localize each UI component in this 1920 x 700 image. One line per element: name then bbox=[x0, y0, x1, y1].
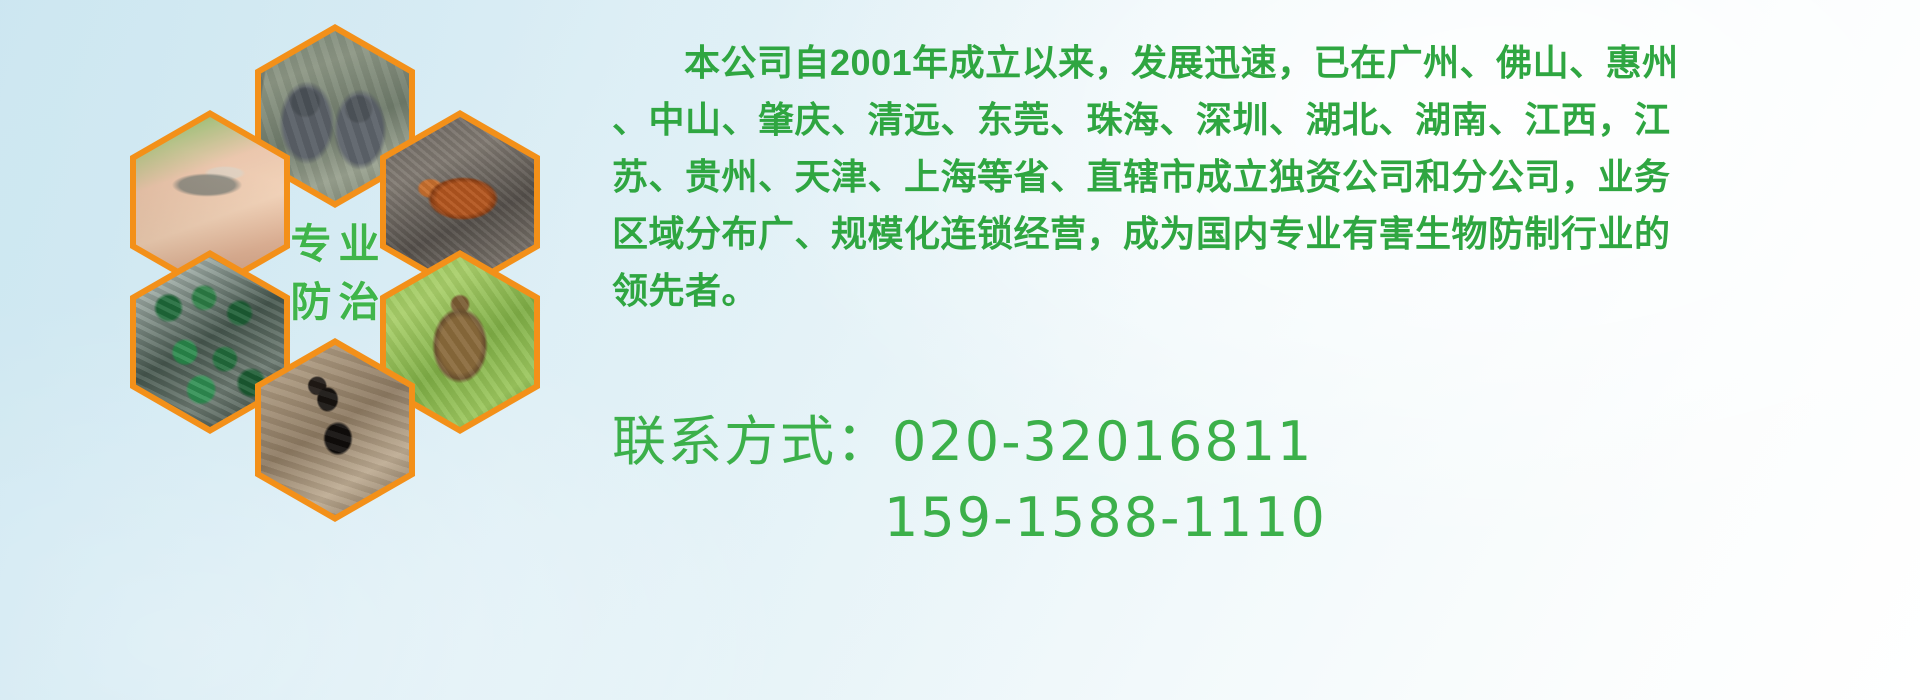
ant-image bbox=[261, 345, 409, 515]
hex-ant-inner bbox=[261, 345, 409, 515]
promo-banner: 专业 防治 本公司自2001年成立以来，发展迅速，已在广州、佛山、惠州 、中山、… bbox=[0, 0, 1920, 700]
intro-line-3: 苏、贵州、天津、上海等省、直辖市成立独资公司和分公司，业务 bbox=[612, 148, 1912, 205]
contact-phone-secondary[interactable]: 159-1588-1110 bbox=[612, 480, 1327, 556]
honeycomb-image-cluster: 专业 防治 bbox=[95, 10, 595, 570]
contact-block: 联系方式：020-32016811 159-1588-1110 bbox=[612, 404, 1327, 556]
intro-paragraph: 本公司自2001年成立以来，发展迅速，已在广州、佛山、惠州 、中山、肇庆、清远、… bbox=[612, 34, 1912, 319]
slogan-line-2: 防治 bbox=[284, 273, 387, 331]
intro-line-2: 、中山、肇庆、清远、东莞、珠海、深圳、湖北、湖南、江西，江 bbox=[612, 91, 1912, 148]
intro-line-1: 本公司自2001年成立以来，发展迅速，已在广州、佛山、惠州 bbox=[612, 34, 1912, 91]
slogan-line-1: 专业 bbox=[284, 215, 387, 273]
contact-phone-primary[interactable]: 联系方式：020-32016811 bbox=[612, 404, 1327, 480]
intro-line-4: 区域分布广、规模化连锁经营，成为国内专业有害生物防制行业的 bbox=[612, 205, 1912, 262]
intro-line-5: 领先者。 bbox=[612, 262, 1912, 319]
